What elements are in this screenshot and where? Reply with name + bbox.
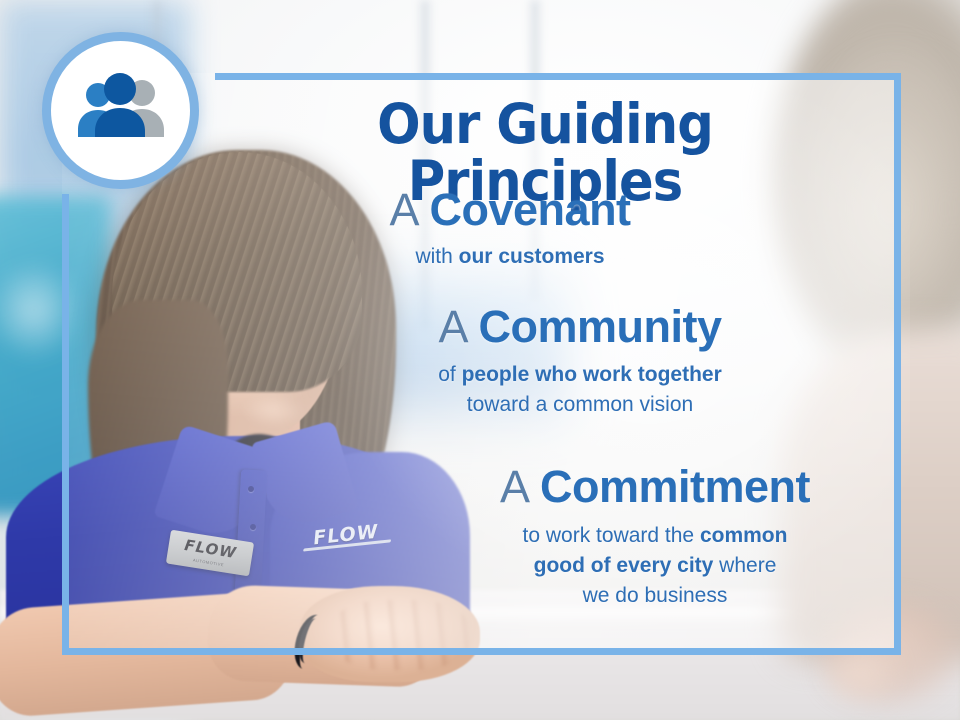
principle-line: good of every city where (440, 551, 870, 581)
principle-line: of people who work together (370, 360, 790, 390)
principle-description: with our customers (300, 242, 720, 272)
poster-canvas: FLOW AUTOMOTIVE FLOW (0, 0, 960, 720)
principle-headline: A Covenant (300, 186, 720, 233)
principle-line: we do business (440, 581, 870, 611)
principle-line: toward a common vision (370, 390, 790, 420)
principle-description: to work toward the common good of every … (440, 521, 870, 610)
principle-headline: A Commitment (440, 463, 870, 510)
principle-keyword: Covenant (430, 184, 631, 235)
principle-article: A (389, 184, 417, 235)
principle-article: A (500, 461, 528, 512)
principle-block-commitment: A Commitment to work toward the common g… (440, 463, 870, 611)
principle-block-community: A Community of people who work together … (370, 303, 790, 420)
poster-text-content: Our Guiding Principles A Covenant with o… (0, 0, 960, 720)
principle-headline: A Community (370, 303, 790, 350)
principle-line: to work toward the common (440, 521, 870, 551)
principle-description: of people who work together toward a com… (370, 360, 790, 420)
principle-keyword: Community (479, 301, 722, 352)
principle-block-covenant: A Covenant with our customers (300, 186, 720, 272)
principle-keyword: Commitment (540, 461, 810, 512)
principle-line: with our customers (300, 242, 720, 272)
principle-article: A (438, 301, 466, 352)
